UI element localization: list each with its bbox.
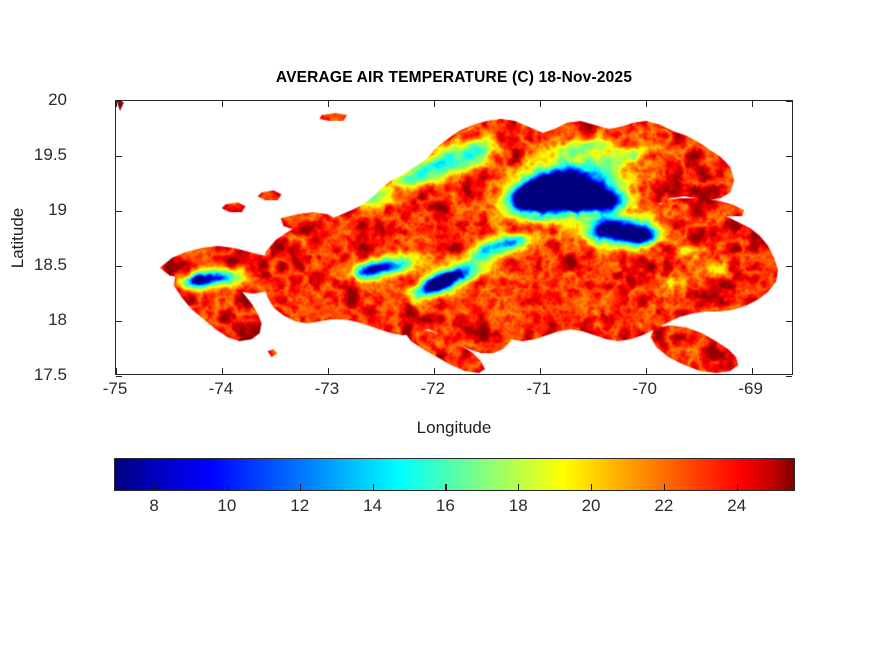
- x-axis-tick-label: -73: [315, 379, 340, 399]
- y-axis-tick: [786, 156, 792, 157]
- x-axis-tick: [646, 101, 647, 107]
- colorbar-tick-label: 14: [363, 496, 382, 516]
- colorbar-tick: [300, 484, 301, 491]
- colorbar-tick: [737, 484, 738, 491]
- x-axis-tick: [222, 368, 223, 374]
- colorbar-tick: [591, 484, 592, 491]
- colorbar-tick-label: 10: [217, 496, 236, 516]
- colorbar-tick: [518, 484, 519, 491]
- y-axis-tick-label: 18: [48, 310, 67, 330]
- colorbar-tick-label: 16: [436, 496, 455, 516]
- y-axis-tick-label: 18.5: [34, 255, 67, 275]
- x-axis-tick: [116, 368, 117, 374]
- y-axis-tick: [116, 156, 122, 157]
- x-axis-tick-label: -71: [526, 379, 551, 399]
- colorbar-tick: [373, 484, 374, 491]
- y-axis-tick: [116, 266, 122, 267]
- x-axis-tick: [222, 101, 223, 107]
- colorbar-tick-label: 8: [149, 496, 158, 516]
- colorbar-tick-label: 12: [290, 496, 309, 516]
- y-axis-tick: [116, 321, 122, 322]
- colorbar-tick-label: 22: [654, 496, 673, 516]
- x-axis-tick: [752, 368, 753, 374]
- y-axis-tick-label: 19: [48, 200, 67, 220]
- x-axis-tick: [540, 368, 541, 374]
- colorbar[interactable]: [114, 458, 795, 491]
- page-title: AVERAGE AIR TEMPERATURE (C) 18-Nov-2025: [115, 69, 793, 87]
- colorbar-tick-label: 18: [509, 496, 528, 516]
- x-axis-tick: [328, 101, 329, 107]
- x-axis-tick: [540, 101, 541, 107]
- y-axis-tick: [786, 321, 792, 322]
- y-axis-tick: [786, 211, 792, 212]
- x-axis-tick-label: -74: [209, 379, 234, 399]
- y-axis-title: Latitude: [8, 208, 28, 269]
- x-axis-title: Longitude: [115, 418, 793, 438]
- x-axis-tick: [434, 368, 435, 374]
- y-axis-tick: [116, 376, 122, 377]
- y-axis-tick-label: 20: [48, 90, 67, 110]
- y-axis-tick: [786, 101, 792, 102]
- x-axis-tick: [646, 368, 647, 374]
- temperature-heatmap: [116, 101, 792, 374]
- x-axis-tick-label: -75: [103, 379, 128, 399]
- y-axis-tick: [116, 101, 122, 102]
- y-axis-tick: [116, 211, 122, 212]
- colorbar-tick: [445, 484, 446, 491]
- colorbar-tick: [154, 484, 155, 491]
- figure-canvas: AVERAGE AIR TEMPERATURE (C) 18-Nov-2025 …: [0, 0, 875, 656]
- colorbar-gradient: [114, 458, 795, 491]
- y-axis-tick-label: 19.5: [34, 145, 67, 165]
- colorbar-tick-label: 20: [582, 496, 601, 516]
- y-axis-tick: [786, 376, 792, 377]
- x-axis-tick: [434, 101, 435, 107]
- y-axis-tick-label: 17.5: [34, 365, 67, 385]
- y-axis-tick: [786, 266, 792, 267]
- x-axis-tick: [752, 101, 753, 107]
- map-axes: [115, 100, 793, 375]
- x-axis-tick-label: -70: [632, 379, 657, 399]
- colorbar-tick: [227, 484, 228, 491]
- colorbar-tick: [664, 484, 665, 491]
- colorbar-tick-label: 24: [727, 496, 746, 516]
- x-axis-tick-label: -69: [738, 379, 763, 399]
- x-axis-tick: [328, 368, 329, 374]
- x-axis-tick-label: -72: [421, 379, 446, 399]
